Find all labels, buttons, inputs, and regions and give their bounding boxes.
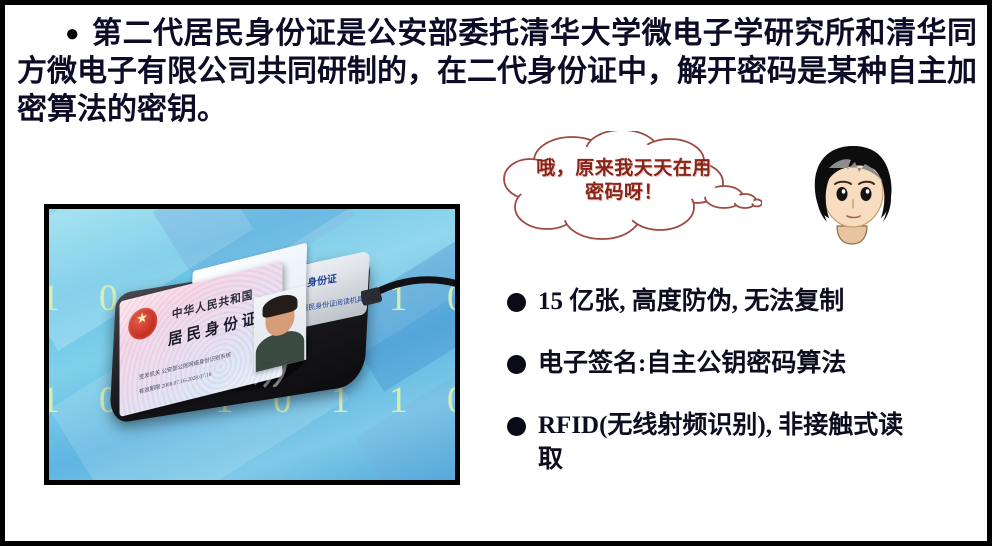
bullet-dot-icon <box>507 293 526 312</box>
thought-bubble-text: 哦，原来我天天在用密码呀！ <box>534 157 714 205</box>
slide-canvas: ●第二代居民身份证是公安部委托清华大学微电子学研究所和清华同方微电子有限公司共同… <box>0 0 992 546</box>
page-title: ●第二代居民身份证是公安部委托清华大学微电子学研究所和清华同方微电子有限公司共同… <box>17 15 977 129</box>
headline-bullet-icon: ● <box>17 21 92 47</box>
feature-bullet-list: 15 亿张, 高度防伪, 无法复制 电子签名:自主公钥密码算法 RFID(无线射… <box>507 285 977 505</box>
id-card-portrait: 7512 <box>254 285 306 372</box>
list-item: 15 亿张, 高度防伪, 无法复制 <box>507 285 977 319</box>
bullet-dot-icon <box>507 417 526 436</box>
bullet-dot-icon <box>507 355 526 374</box>
list-item-label: 15 亿张, 高度防伪, 无法复制 <box>538 285 844 319</box>
list-item: RFID(无线射频识别), 非接触式读取 <box>507 409 927 477</box>
list-item: 电子签名:自主公钥密码算法 <box>507 347 977 381</box>
id-card-reader-device: 中国二代证 身份证 居民身份证阅读机具 <box>111 265 383 427</box>
headline-text: 第二代居民身份证是公安部委托清华大学微电子学研究所和清华同方微电子有限公司共同研… <box>17 17 977 126</box>
thought-bubble: 哦，原来我天天在用密码呀！ <box>492 131 762 243</box>
list-item-label: RFID(无线射频识别), 非接触式读取 <box>538 409 927 477</box>
photo-content: 0 1 0 1 1 0 1 1 0 1 0 1 1 0 1 1 0 1 1 0 … <box>49 209 455 480</box>
cartoon-girl-head-icon <box>803 138 901 246</box>
list-item-label: 电子签名:自主公钥密码算法 <box>538 347 846 381</box>
id-reader-photo: 0 1 0 1 1 0 1 1 0 1 0 1 1 0 1 1 0 1 1 0 … <box>44 204 460 485</box>
